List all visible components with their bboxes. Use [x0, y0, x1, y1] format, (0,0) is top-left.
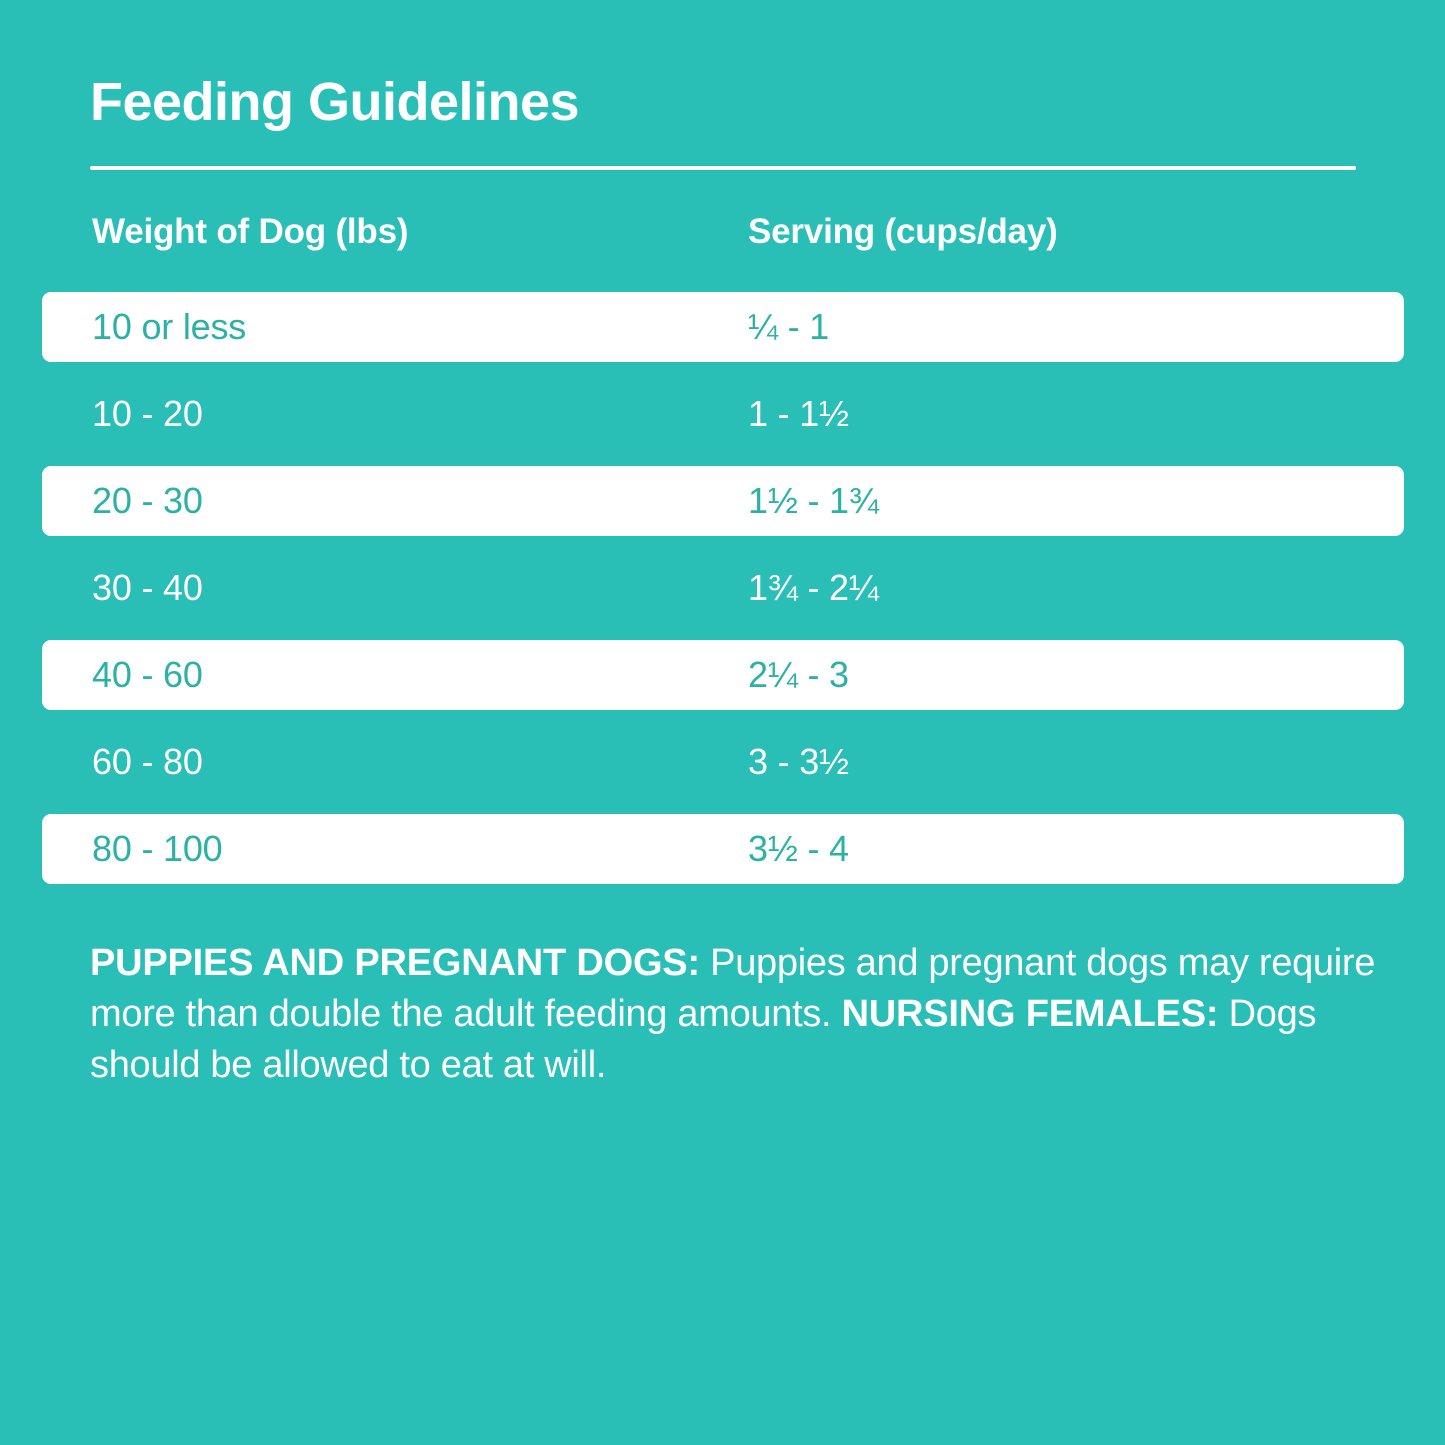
cell-serving: 1¾ - 2¼	[748, 570, 879, 606]
column-header-serving: Serving (cups/day)	[748, 212, 1058, 252]
cell-serving: 2¼ - 3	[748, 657, 849, 693]
cell-weight: 30 - 40	[92, 570, 203, 606]
table-row: 60 - 803 - 3½	[42, 727, 1404, 797]
cell-serving: 1 - 1½	[748, 396, 849, 432]
page-title: Feeding Guidelines	[90, 74, 579, 131]
cell-serving: ¼ - 1	[748, 309, 829, 345]
table-row: 10 - 201 - 1½	[42, 379, 1404, 449]
cell-serving: 3½ - 4	[748, 831, 849, 867]
title-divider	[90, 166, 1356, 170]
feeding-guidelines-panel: Feeding Guidelines Weight of Dog (lbs) S…	[0, 0, 1445, 1445]
cell-serving: 3 - 3½	[748, 744, 849, 780]
table-row: 20 - 301½ - 1¾	[42, 466, 1404, 536]
table-row: 30 - 401¾ - 2¼	[42, 553, 1404, 623]
footnote-text: PUPPIES AND PREGNANT DOGS: Puppies and p…	[90, 938, 1380, 1091]
footnote-label-puppies: PUPPIES AND PREGNANT DOGS:	[90, 942, 700, 984]
footnote-label-nursing: NURSING FEMALES:	[842, 993, 1219, 1035]
cell-weight: 10 - 20	[92, 396, 203, 432]
table-column-headers: Weight of Dog (lbs) Serving (cups/day)	[0, 212, 1445, 262]
cell-weight: 80 - 100	[92, 831, 223, 867]
feeding-table: 10 or less¼ - 110 - 201 - 1½20 - 301½ - …	[42, 292, 1404, 884]
table-row: 10 or less¼ - 1	[42, 292, 1404, 362]
cell-weight: 20 - 30	[92, 483, 203, 519]
cell-weight: 40 - 60	[92, 657, 203, 693]
column-header-weight: Weight of Dog (lbs)	[92, 212, 408, 252]
cell-weight: 10 or less	[92, 309, 246, 345]
cell-serving: 1½ - 1¾	[748, 483, 879, 519]
cell-weight: 60 - 80	[92, 744, 203, 780]
table-row: 80 - 1003½ - 4	[42, 814, 1404, 884]
table-row: 40 - 602¼ - 3	[42, 640, 1404, 710]
